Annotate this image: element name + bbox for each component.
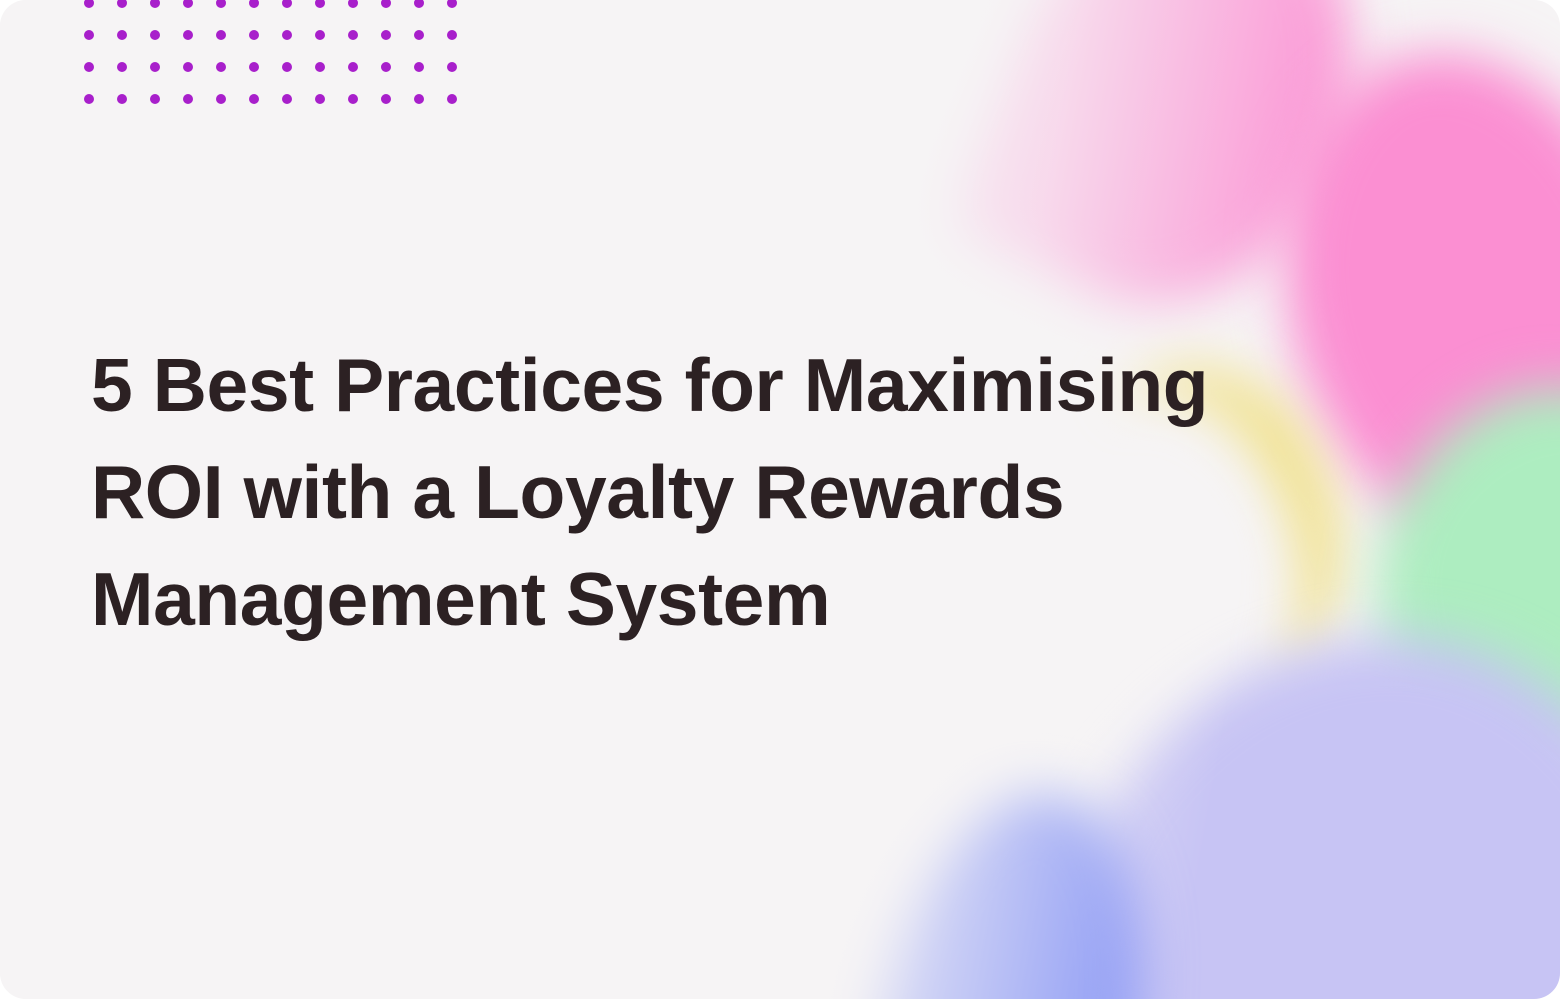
pink-petal-upper-blob [937,0,1413,359]
grid-dot [216,94,226,104]
grid-dot [84,0,94,8]
grid-dot [117,62,127,72]
grid-dot [84,62,94,72]
grid-dot [117,94,127,104]
grid-dot [381,62,391,72]
dot-grid-row [84,62,452,72]
grid-dot [117,0,127,8]
grid-dot [150,94,160,104]
grid-dot [117,30,127,40]
grid-dot [414,30,424,40]
grid-dot [150,30,160,40]
grid-dot [348,94,358,104]
grid-dot [183,30,193,40]
grid-dot [84,30,94,40]
grid-dot [447,0,457,8]
grid-dot [249,0,259,8]
grid-dot [249,62,259,72]
grid-dot [282,62,292,72]
grid-dot [414,62,424,72]
article-hero-card: 5 Best Practices for Maximising ROI with… [0,0,1560,999]
grid-dot [381,30,391,40]
grid-dot [381,94,391,104]
grid-dot [348,0,358,8]
grid-dot [315,30,325,40]
grid-dot [150,62,160,72]
grid-dot [216,62,226,72]
heading-block: 5 Best Practices for Maximising ROI with… [91,332,1266,653]
grid-dot [315,62,325,72]
dot-grid-row [84,94,452,104]
grid-dot [414,0,424,8]
grid-dot [348,30,358,40]
pink-petal-right-blob [1235,14,1560,586]
mint-green-blob [1327,343,1560,807]
lavender-fan-blob [1027,609,1560,999]
grid-dot [414,94,424,104]
blue-petal-blob [839,768,1181,999]
grid-dot [282,30,292,40]
page-title: 5 Best Practices for Maximising ROI with… [91,332,1266,653]
grid-dot [216,30,226,40]
grid-dot [150,0,160,8]
grid-dot [315,0,325,8]
grid-dot [216,0,226,8]
grid-dot [84,94,94,104]
grid-dot [183,62,193,72]
grid-dot [447,62,457,72]
grid-dot [315,94,325,104]
dot-grid-row [84,30,452,40]
dot-grid-row [84,0,452,8]
grid-dot [282,94,292,104]
grid-dot [447,94,457,104]
grid-dot [249,30,259,40]
grid-dot [249,94,259,104]
grid-dot [381,0,391,8]
grid-dot [183,0,193,8]
grid-dot [447,30,457,40]
grid-dot [183,94,193,104]
grid-dot [282,0,292,8]
dot-grid-decoration [84,0,452,108]
grid-dot [348,62,358,72]
